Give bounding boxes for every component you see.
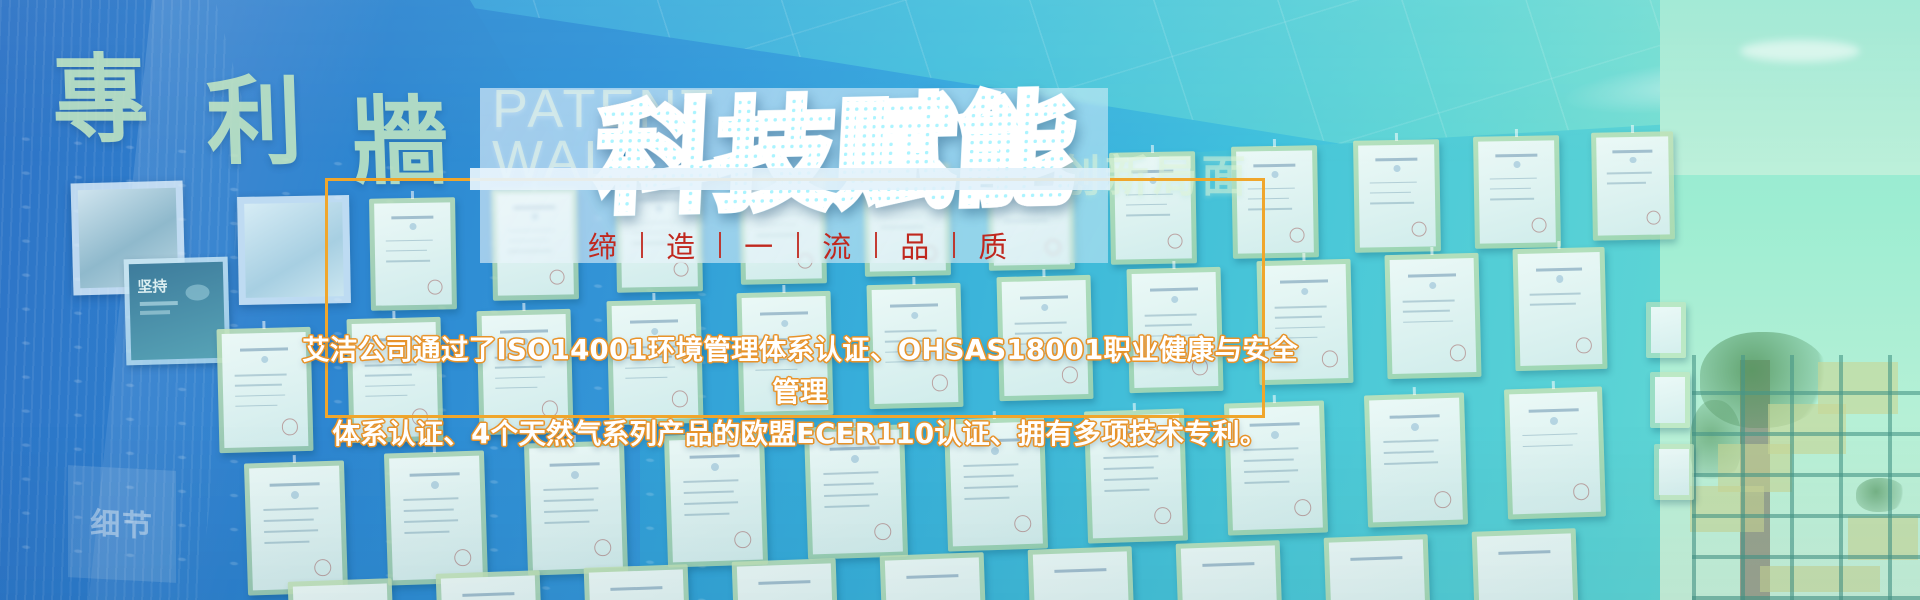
certificate-frame [1364, 392, 1468, 527]
certificate-frame [1324, 534, 1433, 600]
certificate-frame [1654, 444, 1694, 500]
certificate-frame [1646, 302, 1686, 358]
certificate-frame [1591, 131, 1675, 240]
certificate-frame [584, 564, 693, 600]
certificate-frame [1176, 540, 1285, 600]
certificate-frame [288, 578, 397, 600]
certificate-frame [384, 450, 488, 585]
certificate-frame [216, 327, 313, 453]
certificate-frame [880, 552, 989, 600]
frame-top-gap-mask [470, 168, 1110, 190]
wall-title-char-2: 利 [204, 44, 307, 183]
certificate-frame [1353, 139, 1441, 252]
certificate-frame [244, 460, 348, 595]
body-paragraph: 艾洁公司通过了ISO14001环境管理体系认证、OHSAS18001职业健康与安… [300, 330, 1300, 455]
certificate-frame [1650, 372, 1690, 428]
certificate-frame [1513, 247, 1608, 371]
body-line-2: 体系认证、4个天然气系列产品的欧盟ECER110认证、拥有多项技术专利。 [300, 414, 1300, 456]
certificate-frame [1504, 386, 1606, 519]
certificate-frame [1472, 528, 1581, 600]
certificate-frame [1028, 546, 1137, 600]
body-line-1: 艾洁公司通过了ISO14001环境管理体系认证、OHSAS18001职业健康与安… [300, 330, 1300, 414]
certificate-frame [524, 440, 628, 575]
patent-wall-banner: 坚持 细节 [0, 0, 1920, 600]
certificate-frame [436, 570, 545, 600]
certificate-frame [1384, 253, 1481, 379]
certificate-frame [732, 558, 841, 600]
certificate-frame [1473, 135, 1561, 248]
wall-title-char-1: 專 [50, 22, 153, 161]
